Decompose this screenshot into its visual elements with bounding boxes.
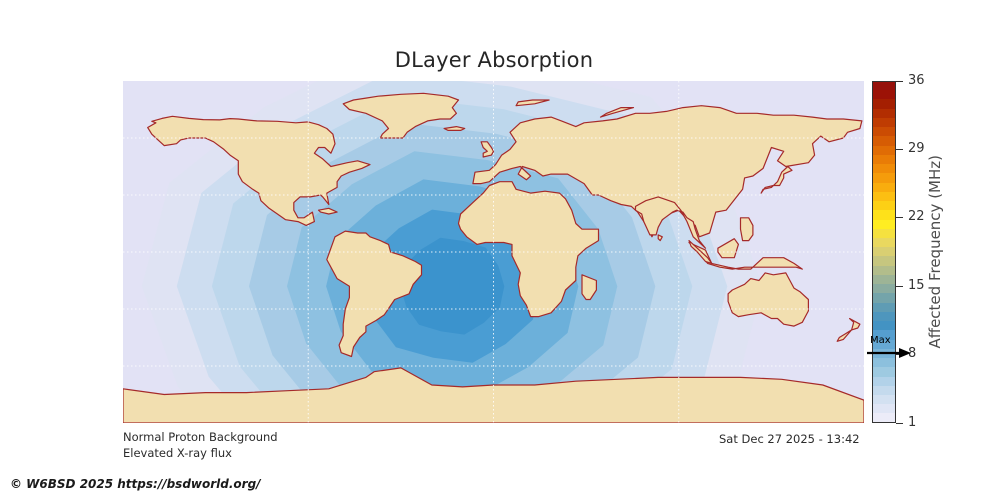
- colorbar-tick-label: 15: [908, 279, 925, 292]
- colorbar-segment: [872, 155, 896, 164]
- colorbar-gradient[interactable]: [872, 81, 896, 423]
- colorbar-segment: [872, 164, 896, 173]
- colorbar-segment: [872, 386, 896, 395]
- max-annotation: Max: [866, 336, 912, 366]
- colorbar-segment: [872, 81, 896, 90]
- status-line-proton: Normal Proton Background: [123, 430, 278, 446]
- colorbar-segment: [872, 210, 896, 219]
- colorbar-segment: [872, 293, 896, 302]
- colorbar-segment: [872, 183, 896, 192]
- colorbar-segment: [872, 247, 896, 256]
- colorbar-segment: [872, 404, 896, 413]
- timestamp: Sat Dec 27 2025 - 13:42: [719, 432, 860, 448]
- colorbar-segment: [872, 90, 896, 99]
- colorbar-segment: [872, 118, 896, 127]
- colorbar-tick-mark: [896, 149, 903, 150]
- colorbar-segment: [872, 413, 896, 422]
- map-plot-area[interactable]: [123, 81, 864, 423]
- colorbar-tick-mark: [896, 217, 903, 218]
- colorbar-segment: [872, 146, 896, 155]
- colorbar-axis-label-text: Affected Frequency (MHz): [926, 155, 944, 349]
- colorbar-segment: [872, 256, 896, 265]
- colorbar-segment: [872, 238, 896, 247]
- colorbar-tick-label: 1: [908, 416, 916, 429]
- colorbar-axis-label: Affected Frequency (MHz): [924, 81, 946, 423]
- max-arrow-icon: [866, 347, 912, 363]
- colorbar-segment: [872, 367, 896, 376]
- status-text: Normal Proton Background Elevated X-ray …: [123, 430, 278, 461]
- colorbar-segment: [872, 284, 896, 293]
- colorbar-segment: [872, 127, 896, 136]
- colorbar-segment: [872, 229, 896, 238]
- colorbar-tick-label: 22: [908, 210, 925, 223]
- colorbar-segment: [872, 377, 896, 386]
- landmass-philippines: [741, 218, 753, 241]
- figure-canvas: DLayer Absorption 1815222936 Affected Fr…: [0, 0, 1000, 500]
- colorbar-segment: [872, 99, 896, 108]
- page-title: DLayer Absorption: [0, 48, 988, 72]
- colorbar-segment: [872, 136, 896, 145]
- colorbar-segment: [872, 312, 896, 321]
- colorbar-tick-mark: [896, 286, 903, 287]
- colorbar-segment: [872, 173, 896, 182]
- colorbar-segment: [872, 303, 896, 312]
- colorbar-segment: [872, 220, 896, 229]
- colorbar-segment: [872, 395, 896, 404]
- world-map: [123, 81, 864, 423]
- colorbar-tick-mark: [896, 423, 903, 424]
- max-annotation-label: Max: [870, 336, 891, 346]
- colorbar-segment: [872, 109, 896, 118]
- colorbar-segment: [872, 192, 896, 201]
- colorbar-tick-mark: [896, 81, 903, 82]
- status-line-xray: Elevated X-ray flux: [123, 446, 278, 462]
- colorbar-segment: [872, 321, 896, 330]
- colorbar-segment: [872, 275, 896, 284]
- copyright-credit[interactable]: © W6BSD 2025 https://bsdworld.org/: [10, 477, 261, 491]
- colorbar-segment: [872, 201, 896, 210]
- colorbar-tick-label: 36: [908, 74, 925, 87]
- colorbar-segment: [872, 266, 896, 275]
- colorbar-tick-label: 29: [908, 142, 925, 155]
